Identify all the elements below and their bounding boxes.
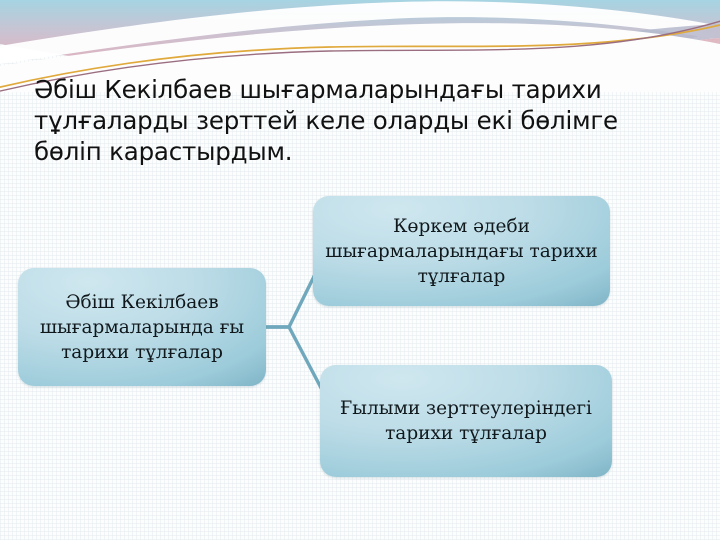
diagram-node-branch-2[interactable]: Ғылыми зерттеулеріндегі тарихи тұлғалар xyxy=(320,365,612,477)
diagram-node-branch-2-label: Ғылыми зерттеулеріндегі тарихи тұлғалар xyxy=(332,396,600,446)
diagram-node-root[interactable]: Әбіш Кекілбаев шығармаларында ғы тарихи … xyxy=(18,268,266,386)
diagram-node-root-label: Әбіш Кекілбаев шығармаларында ғы тарихи … xyxy=(30,290,254,365)
diagram-node-branch-1-label: Көркем әдеби шығармаларындағы тарихи тұл… xyxy=(325,214,598,289)
presentation-slide: Әбіш Кекілбаев шығармаларындағы тарихи т… xyxy=(0,0,720,540)
diagram-node-branch-1[interactable]: Көркем әдеби шығармаларындағы тарихи тұл… xyxy=(313,196,610,306)
